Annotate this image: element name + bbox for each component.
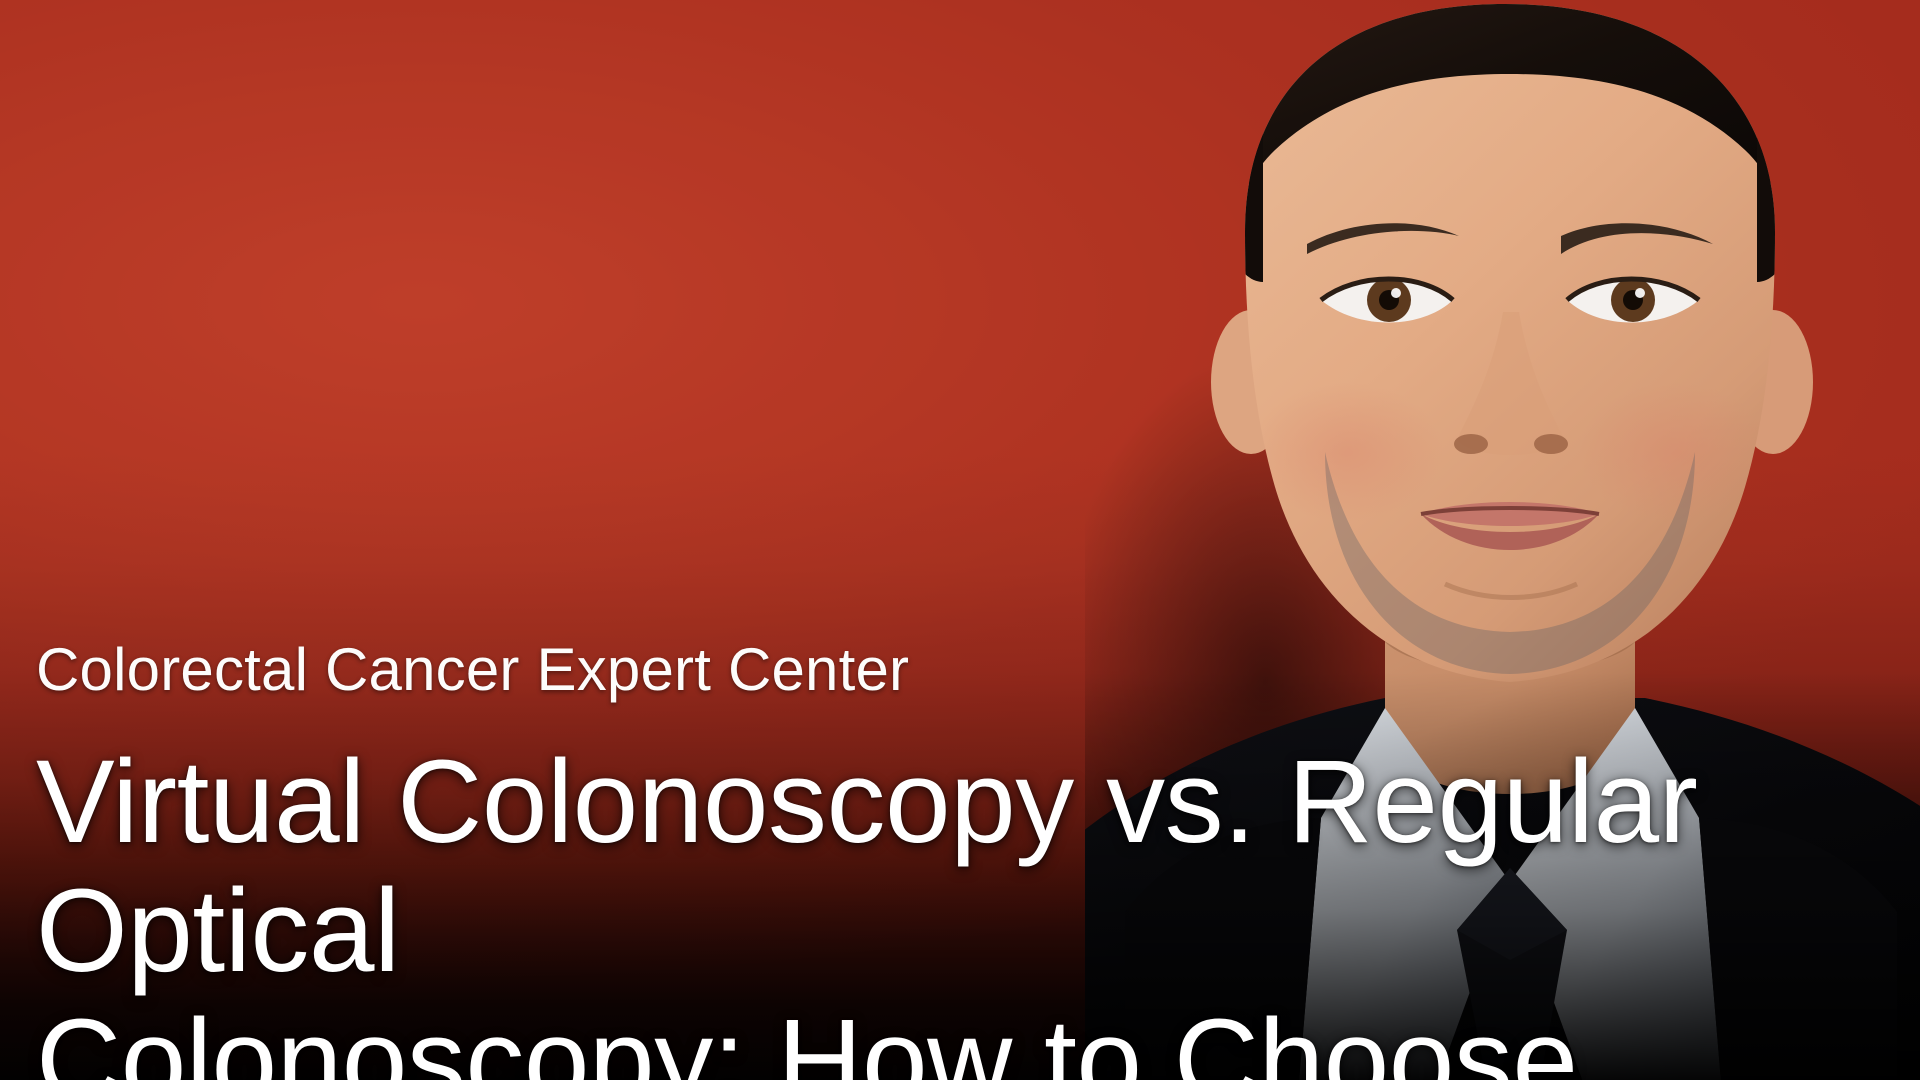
title-line-1: Virtual Colonoscopy vs. Regular Optical xyxy=(36,736,1697,998)
title-text-block: Colorectal Cancer Expert Center Virtual … xyxy=(36,638,1906,1080)
title-card-slide: Colorectal Cancer Expert Center Virtual … xyxy=(0,0,1920,1080)
page-title: Virtual Colonoscopy vs. Regular Optical … xyxy=(36,738,1906,1080)
title-line-2: Colonoscopy: How to Choose Best? xyxy=(36,997,1906,1080)
brand-eyebrow: Colorectal Cancer Expert Center xyxy=(36,638,1906,702)
